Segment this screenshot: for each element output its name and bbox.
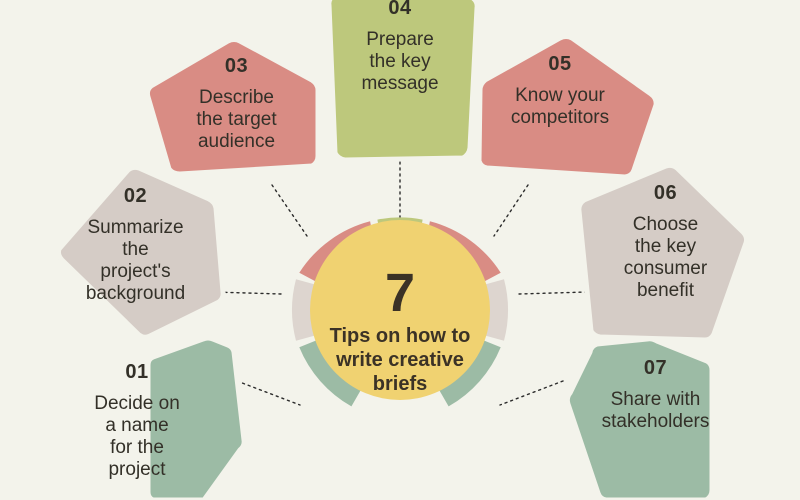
infographic-root: 01 Decide on a name for the project 02 S… [0, 0, 800, 500]
diagram-stage: 01 Decide on a name for the project 02 S… [0, 0, 800, 500]
node-shape-04[interactable] [329, 0, 477, 160]
node-shape-01[interactable] [148, 338, 244, 500]
nodes-layer [0, 0, 800, 500]
node-shape-05[interactable] [479, 37, 656, 178]
node-shape-07[interactable] [567, 339, 712, 500]
node-shape-06[interactable] [579, 165, 747, 340]
node-shape-03[interactable] [147, 40, 318, 175]
node-shape-02[interactable] [58, 167, 223, 337]
